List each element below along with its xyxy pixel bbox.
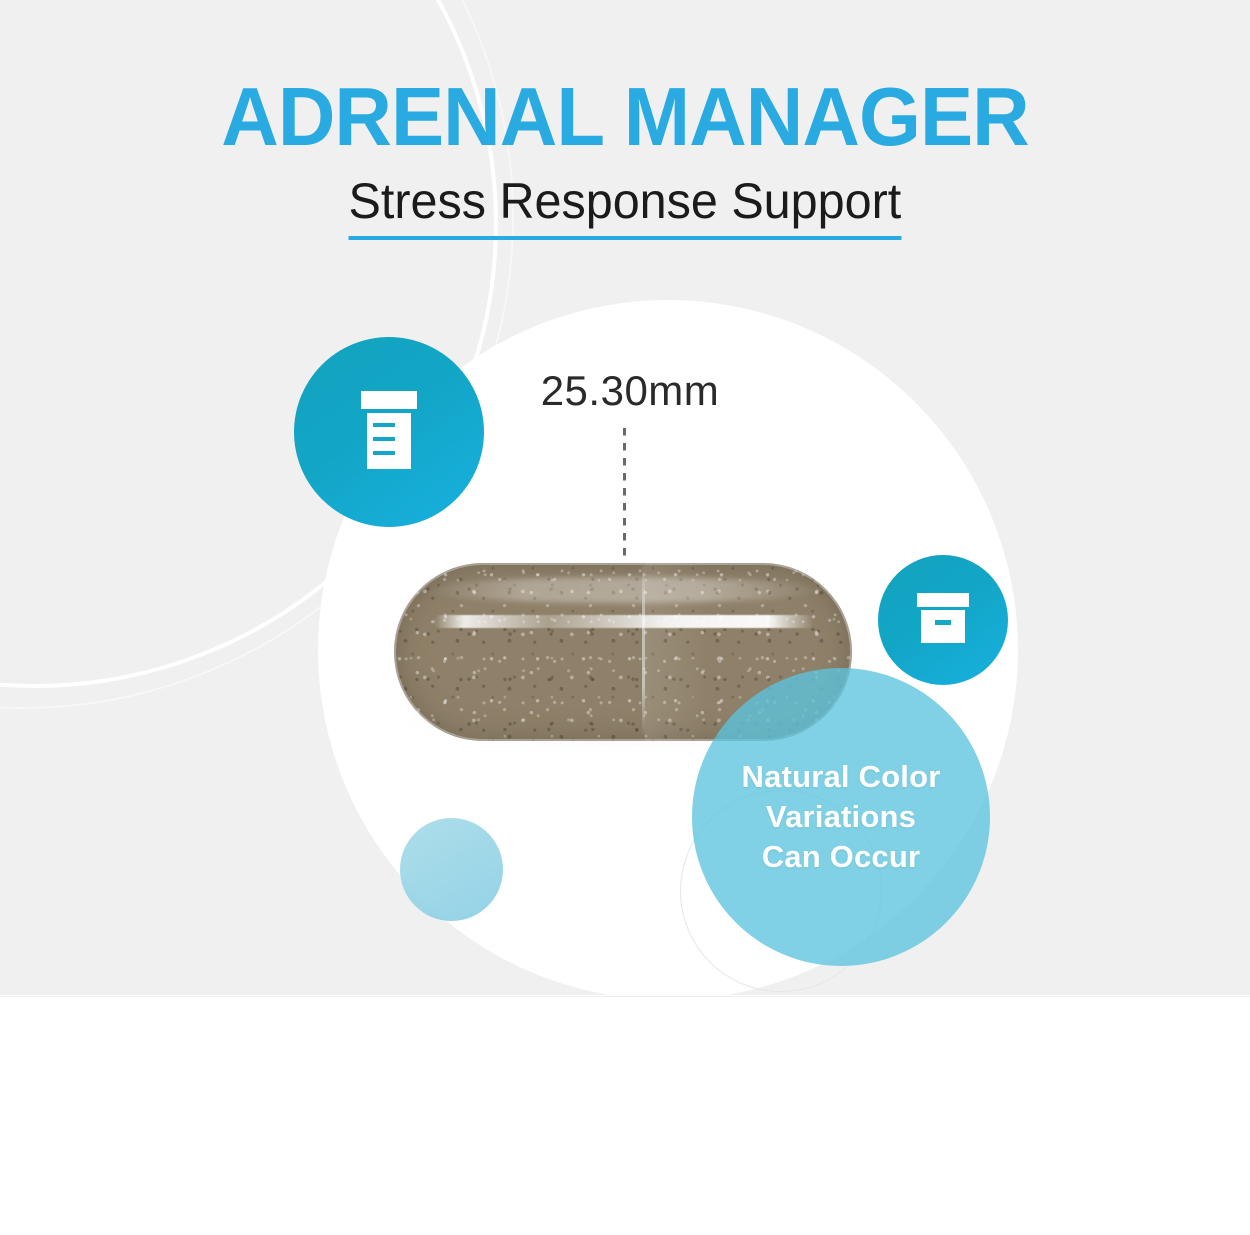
capsule-length-label: 25.30mm (520, 368, 740, 414)
storage-box-badge (878, 555, 1008, 685)
product-infographic: ADRENAL MANAGER Stress Response Support … (0, 0, 1250, 1235)
page-title: ADRENAL MANAGER (25, 72, 1225, 162)
made-without-band: Made Without (0, 996, 1250, 1235)
accent-circle (400, 818, 503, 921)
measuring-container-badge (294, 337, 484, 527)
natural-color-callout: Natural Color Variations Can Occur (692, 668, 990, 966)
page-subtitle: Stress Response Support (349, 172, 902, 240)
natural-color-callout-text: Natural Color Variations Can Occur (742, 757, 941, 877)
dimension-leader-line (623, 428, 626, 573)
hero-panel: ADRENAL MANAGER Stress Response Support … (0, 0, 1250, 995)
page-subtitle-wrap: Stress Response Support (0, 172, 1250, 240)
box-icon (914, 591, 972, 650)
measuring-container-icon (353, 389, 425, 476)
